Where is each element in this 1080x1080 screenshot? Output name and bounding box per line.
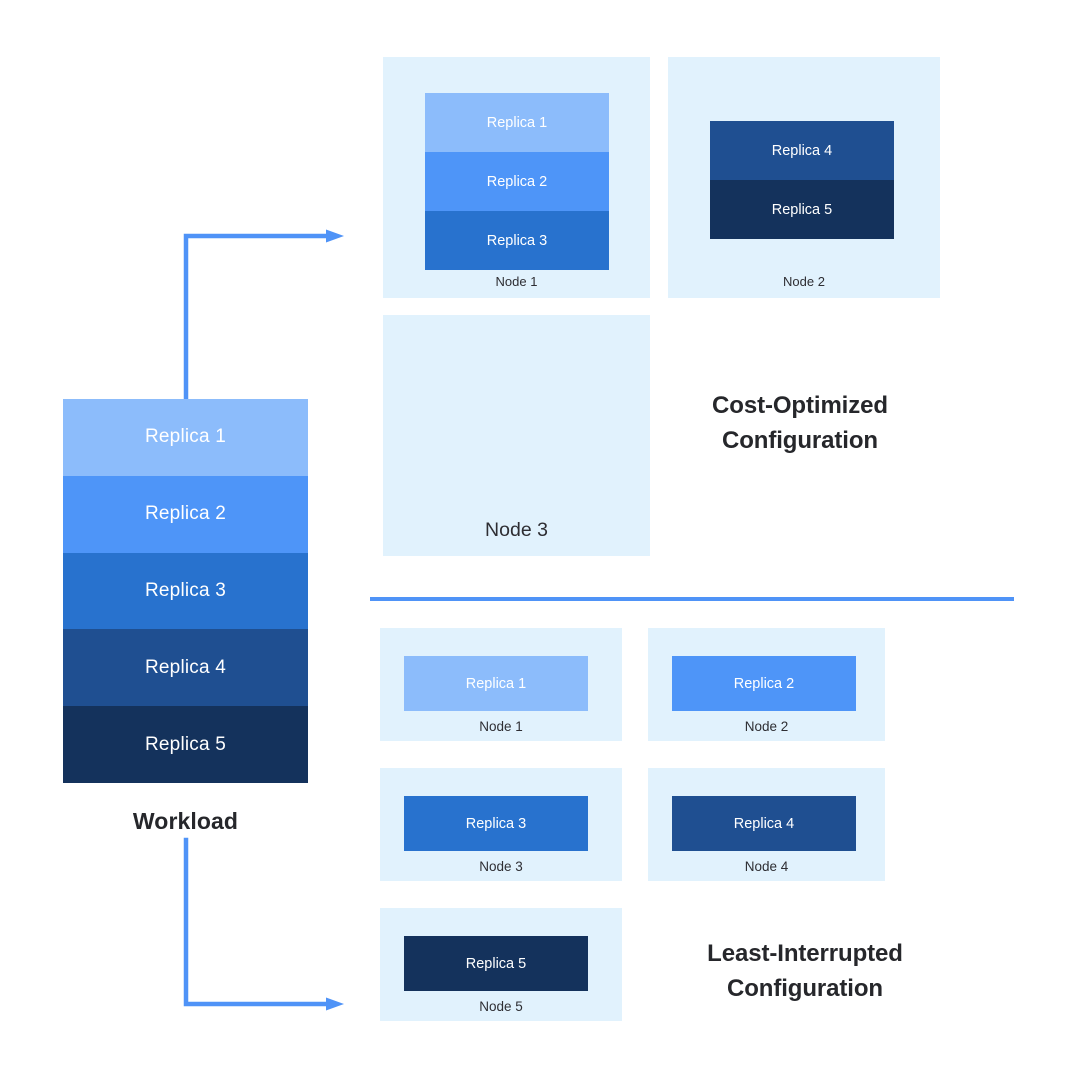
diagram-canvas: Replica 1 Replica 2 Replica 3 Replica 4 … bbox=[0, 0, 1080, 1080]
least-node-3-replica-3: Replica 3 bbox=[404, 796, 588, 851]
workload-replica-4: Replica 4 bbox=[63, 629, 308, 706]
cost-node-1-replica-2: Replica 2 bbox=[425, 152, 609, 211]
workload-stack: Replica 1 Replica 2 Replica 3 Replica 4 … bbox=[63, 399, 308, 783]
least-node-5: Replica 5 Node 5 bbox=[380, 908, 622, 1021]
least-node-4: Replica 4 Node 4 bbox=[648, 768, 885, 881]
cost-node-1-replica-1: Replica 1 bbox=[425, 93, 609, 152]
workload-replica-2: Replica 2 bbox=[63, 476, 308, 553]
arrow-to-least-interrupted-icon bbox=[178, 840, 354, 1012]
cost-node-2-replica-5-label: Replica 5 bbox=[772, 202, 832, 218]
cost-caption-line-1: Cost-Optimized bbox=[650, 389, 950, 424]
arrow-to-cost-optimized-icon bbox=[178, 228, 354, 408]
workload-title: Workload bbox=[63, 808, 308, 835]
workload-replica-4-label: Replica 4 bbox=[145, 657, 226, 679]
cost-node-2-replica-4: Replica 4 bbox=[710, 121, 894, 180]
section-divider bbox=[370, 597, 1014, 601]
least-node-2-label: Node 2 bbox=[648, 719, 885, 734]
workload-replica-2-label: Replica 2 bbox=[145, 503, 226, 525]
cost-optimized-caption: Cost-Optimized Configuration bbox=[650, 389, 950, 459]
cost-node-2: Replica 4 Replica 5 Node 2 bbox=[668, 57, 940, 298]
cost-node-1-replica-1-label: Replica 1 bbox=[487, 115, 547, 131]
least-node-4-replica-4-label: Replica 4 bbox=[734, 816, 794, 832]
cost-node-1: Replica 1 Replica 2 Replica 3 Node 1 bbox=[383, 57, 650, 298]
least-node-5-replica-5: Replica 5 bbox=[404, 936, 588, 991]
least-caption-line-1: Least-Interrupted bbox=[655, 937, 955, 972]
least-node-4-label: Node 4 bbox=[648, 859, 885, 874]
workload-replica-3: Replica 3 bbox=[63, 553, 308, 630]
cost-node-1-replica-3: Replica 3 bbox=[425, 211, 609, 270]
cost-node-2-label: Node 2 bbox=[668, 274, 940, 289]
least-interrupted-caption: Least-Interrupted Configuration bbox=[655, 937, 955, 1007]
least-node-1-replica-1: Replica 1 bbox=[404, 656, 588, 711]
workload-replica-5: Replica 5 bbox=[63, 706, 308, 783]
least-caption-line-2: Configuration bbox=[655, 972, 955, 1007]
least-node-1-label: Node 1 bbox=[380, 719, 622, 734]
cost-node-1-replica-2-label: Replica 2 bbox=[487, 174, 547, 190]
cost-node-1-label: Node 1 bbox=[383, 274, 650, 289]
cost-caption-line-2: Configuration bbox=[650, 424, 950, 459]
workload-replica-1-label: Replica 1 bbox=[145, 426, 226, 448]
cost-node-2-replica-5: Replica 5 bbox=[710, 180, 894, 239]
least-node-2-replica-2: Replica 2 bbox=[672, 656, 856, 711]
least-node-1-replica-1-label: Replica 1 bbox=[466, 676, 526, 692]
workload-replica-5-label: Replica 5 bbox=[145, 734, 226, 756]
least-node-5-label: Node 5 bbox=[380, 999, 622, 1014]
workload-replica-3-label: Replica 3 bbox=[145, 580, 226, 602]
least-node-2: Replica 2 Node 2 bbox=[648, 628, 885, 741]
least-node-5-replica-5-label: Replica 5 bbox=[466, 956, 526, 972]
least-node-3: Replica 3 Node 3 bbox=[380, 768, 622, 881]
cost-node-3: Node 3 bbox=[383, 315, 650, 556]
least-node-3-label: Node 3 bbox=[380, 859, 622, 874]
workload-replica-1: Replica 1 bbox=[63, 399, 308, 476]
least-node-1: Replica 1 Node 1 bbox=[380, 628, 622, 741]
least-node-4-replica-4: Replica 4 bbox=[672, 796, 856, 851]
cost-node-1-replica-3-label: Replica 3 bbox=[487, 233, 547, 249]
cost-node-2-replica-4-label: Replica 4 bbox=[772, 143, 832, 159]
cost-node-3-label: Node 3 bbox=[383, 519, 650, 542]
least-node-3-replica-3-label: Replica 3 bbox=[466, 816, 526, 832]
least-node-2-replica-2-label: Replica 2 bbox=[734, 676, 794, 692]
